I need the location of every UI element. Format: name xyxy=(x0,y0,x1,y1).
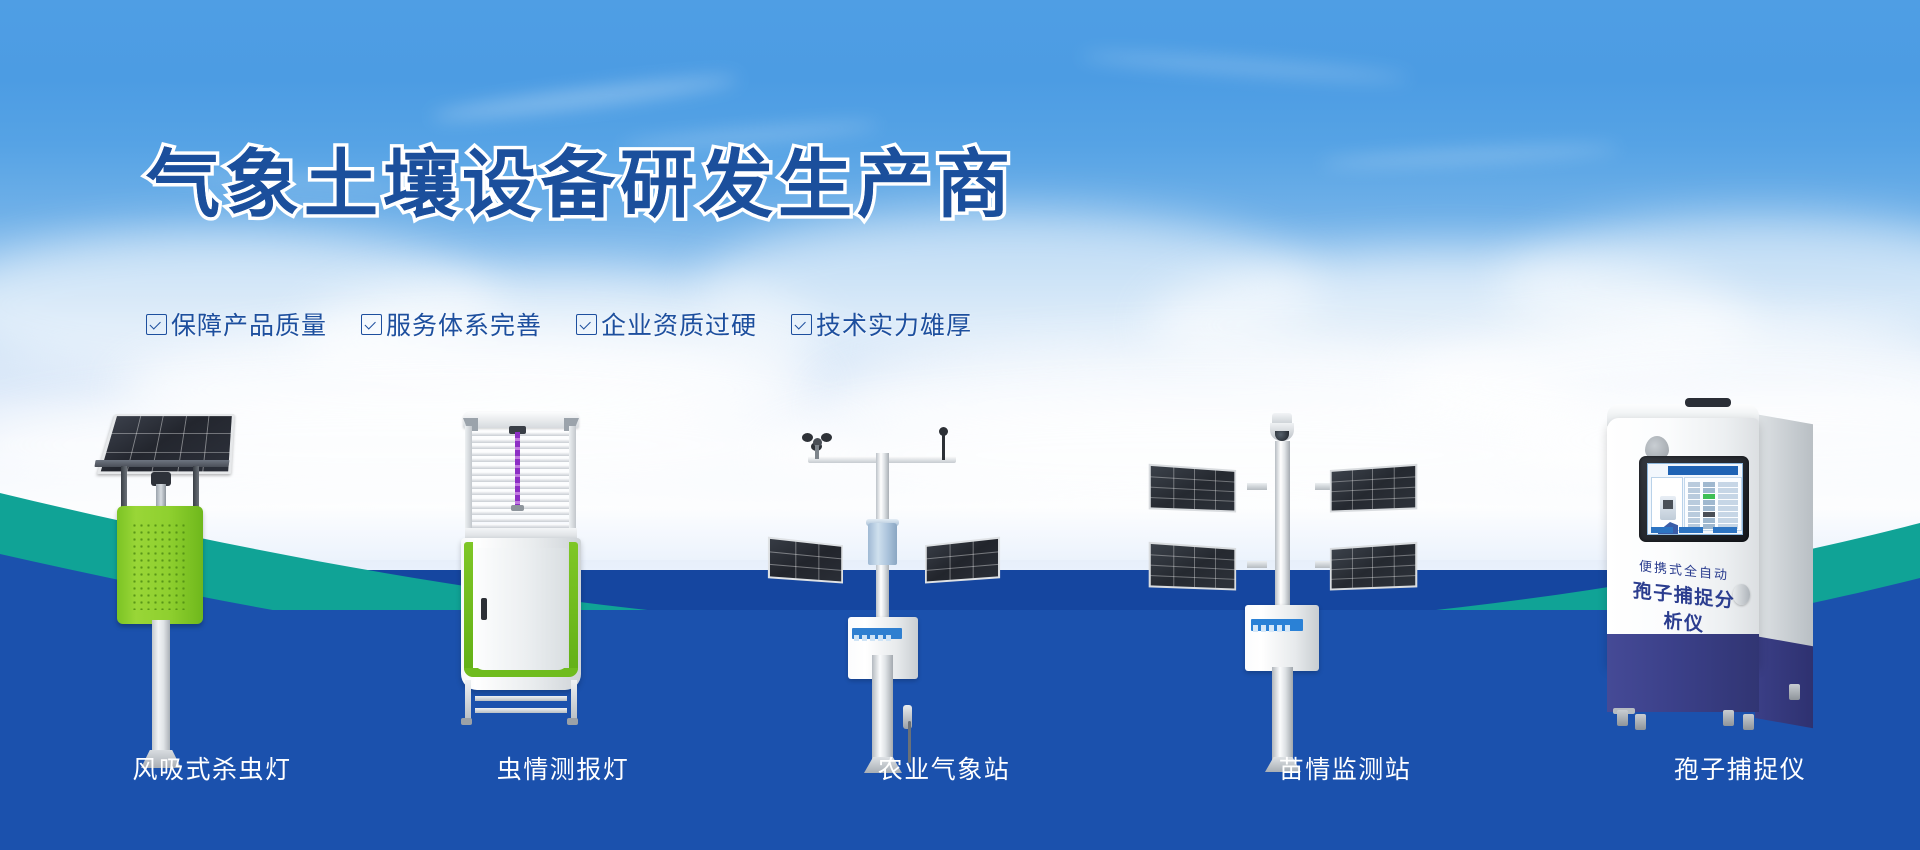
product-label-0: 风吸式杀虫灯 xyxy=(132,750,291,786)
mesh-pattern xyxy=(131,522,189,610)
louver-assembly xyxy=(469,428,573,528)
screen-title-bar xyxy=(1668,466,1738,475)
door-knob-icon xyxy=(1733,584,1750,605)
feature-label: 保障产品质量 xyxy=(171,306,327,342)
agricultural-weather-station-icon xyxy=(824,405,1064,725)
cabinet-foot xyxy=(1743,714,1754,730)
indicator-strip xyxy=(852,628,902,639)
cabinet-base xyxy=(1607,634,1759,712)
page-title: 气象土壤设备研发生产商 xyxy=(146,148,1015,222)
panel-bracket xyxy=(1247,561,1267,568)
insect-collection-box xyxy=(117,506,203,624)
cabinet-foot xyxy=(1723,710,1734,726)
cabinet-side-base xyxy=(1755,636,1813,728)
product-label-3: 苗情监测站 xyxy=(1279,750,1412,786)
feature-list: 保障产品质量 服务体系完善 企业资质过硬 技术实力雄厚 xyxy=(146,306,972,342)
side-post xyxy=(465,426,472,530)
device-faceplate-label: 便携式全自动 孢子捕捉分析仪 xyxy=(1625,556,1743,644)
screen-device-image xyxy=(1651,477,1683,531)
uv-lamp-base xyxy=(511,505,524,511)
hero-banner: 气象土壤设备研发生产商 气象土壤设备研发生产商 保障产品质量 服务体系完善 企业… xyxy=(0,0,1920,850)
checkbox-checked-icon xyxy=(146,314,167,335)
carry-handle xyxy=(1685,398,1731,407)
checkbox-checked-icon xyxy=(361,314,382,335)
feature-item-2: 企业资质过硬 xyxy=(576,306,757,342)
feature-label: 企业资质过硬 xyxy=(601,306,757,342)
insect-monitoring-lamp-icon xyxy=(443,412,683,722)
rain-gauge-icon xyxy=(868,523,897,565)
uv-lamp-tube xyxy=(515,432,520,506)
seedling-monitoring-station-icon xyxy=(1215,405,1475,725)
feature-item-3: 技术实力雄厚 xyxy=(791,306,972,342)
solar-panel xyxy=(925,537,1000,584)
mast-lower xyxy=(1272,667,1293,763)
cabinet-foot xyxy=(1789,684,1800,700)
cabinet-door xyxy=(474,548,568,670)
spore-capture-analyzer-icon: 便携式全自动 孢子捕捉分析仪 xyxy=(1573,398,1873,728)
wind-vane-icon xyxy=(936,427,950,459)
product-label-2: 农业气象站 xyxy=(878,750,1011,786)
screen-settings-panel xyxy=(1684,477,1742,531)
feature-label: 服务体系完善 xyxy=(386,306,542,342)
indicator-strip xyxy=(1251,619,1303,631)
product-label-4: 孢子捕捉仪 xyxy=(1674,750,1807,786)
side-post xyxy=(569,426,576,530)
anemometer-icon xyxy=(802,433,832,451)
checkbox-checked-icon xyxy=(576,314,597,335)
door-lock-icon xyxy=(481,598,487,620)
green-trim xyxy=(464,542,473,676)
wind-suction-insect-killer-lamp-icon xyxy=(97,398,327,718)
panel-bracket xyxy=(1247,483,1267,490)
feature-label: 技术实力雄厚 xyxy=(816,306,972,342)
checkbox-checked-icon xyxy=(791,314,812,335)
support-pole xyxy=(152,620,170,754)
mast-lower xyxy=(872,655,893,761)
feature-item-0: 保障产品质量 xyxy=(146,306,327,342)
touchscreen-display[interactable] xyxy=(1647,463,1743,535)
solar-panel xyxy=(1330,542,1417,591)
panel-mount-bar xyxy=(94,460,229,467)
screen-button-row xyxy=(1651,527,1739,533)
feature-item-1: 服务体系完善 xyxy=(361,306,542,342)
cabinet-foot xyxy=(1617,710,1628,726)
green-trim xyxy=(569,542,578,676)
control-box xyxy=(1245,605,1319,671)
device-thumb-screen xyxy=(1663,500,1673,509)
leg-frame xyxy=(459,680,583,726)
solar-panel xyxy=(1330,464,1417,513)
solar-panel xyxy=(1149,542,1236,591)
solar-panel xyxy=(768,537,843,584)
cabinet-foot xyxy=(1635,714,1646,730)
solar-panel xyxy=(1149,464,1236,513)
product-label-1: 虫情测报灯 xyxy=(497,750,630,786)
